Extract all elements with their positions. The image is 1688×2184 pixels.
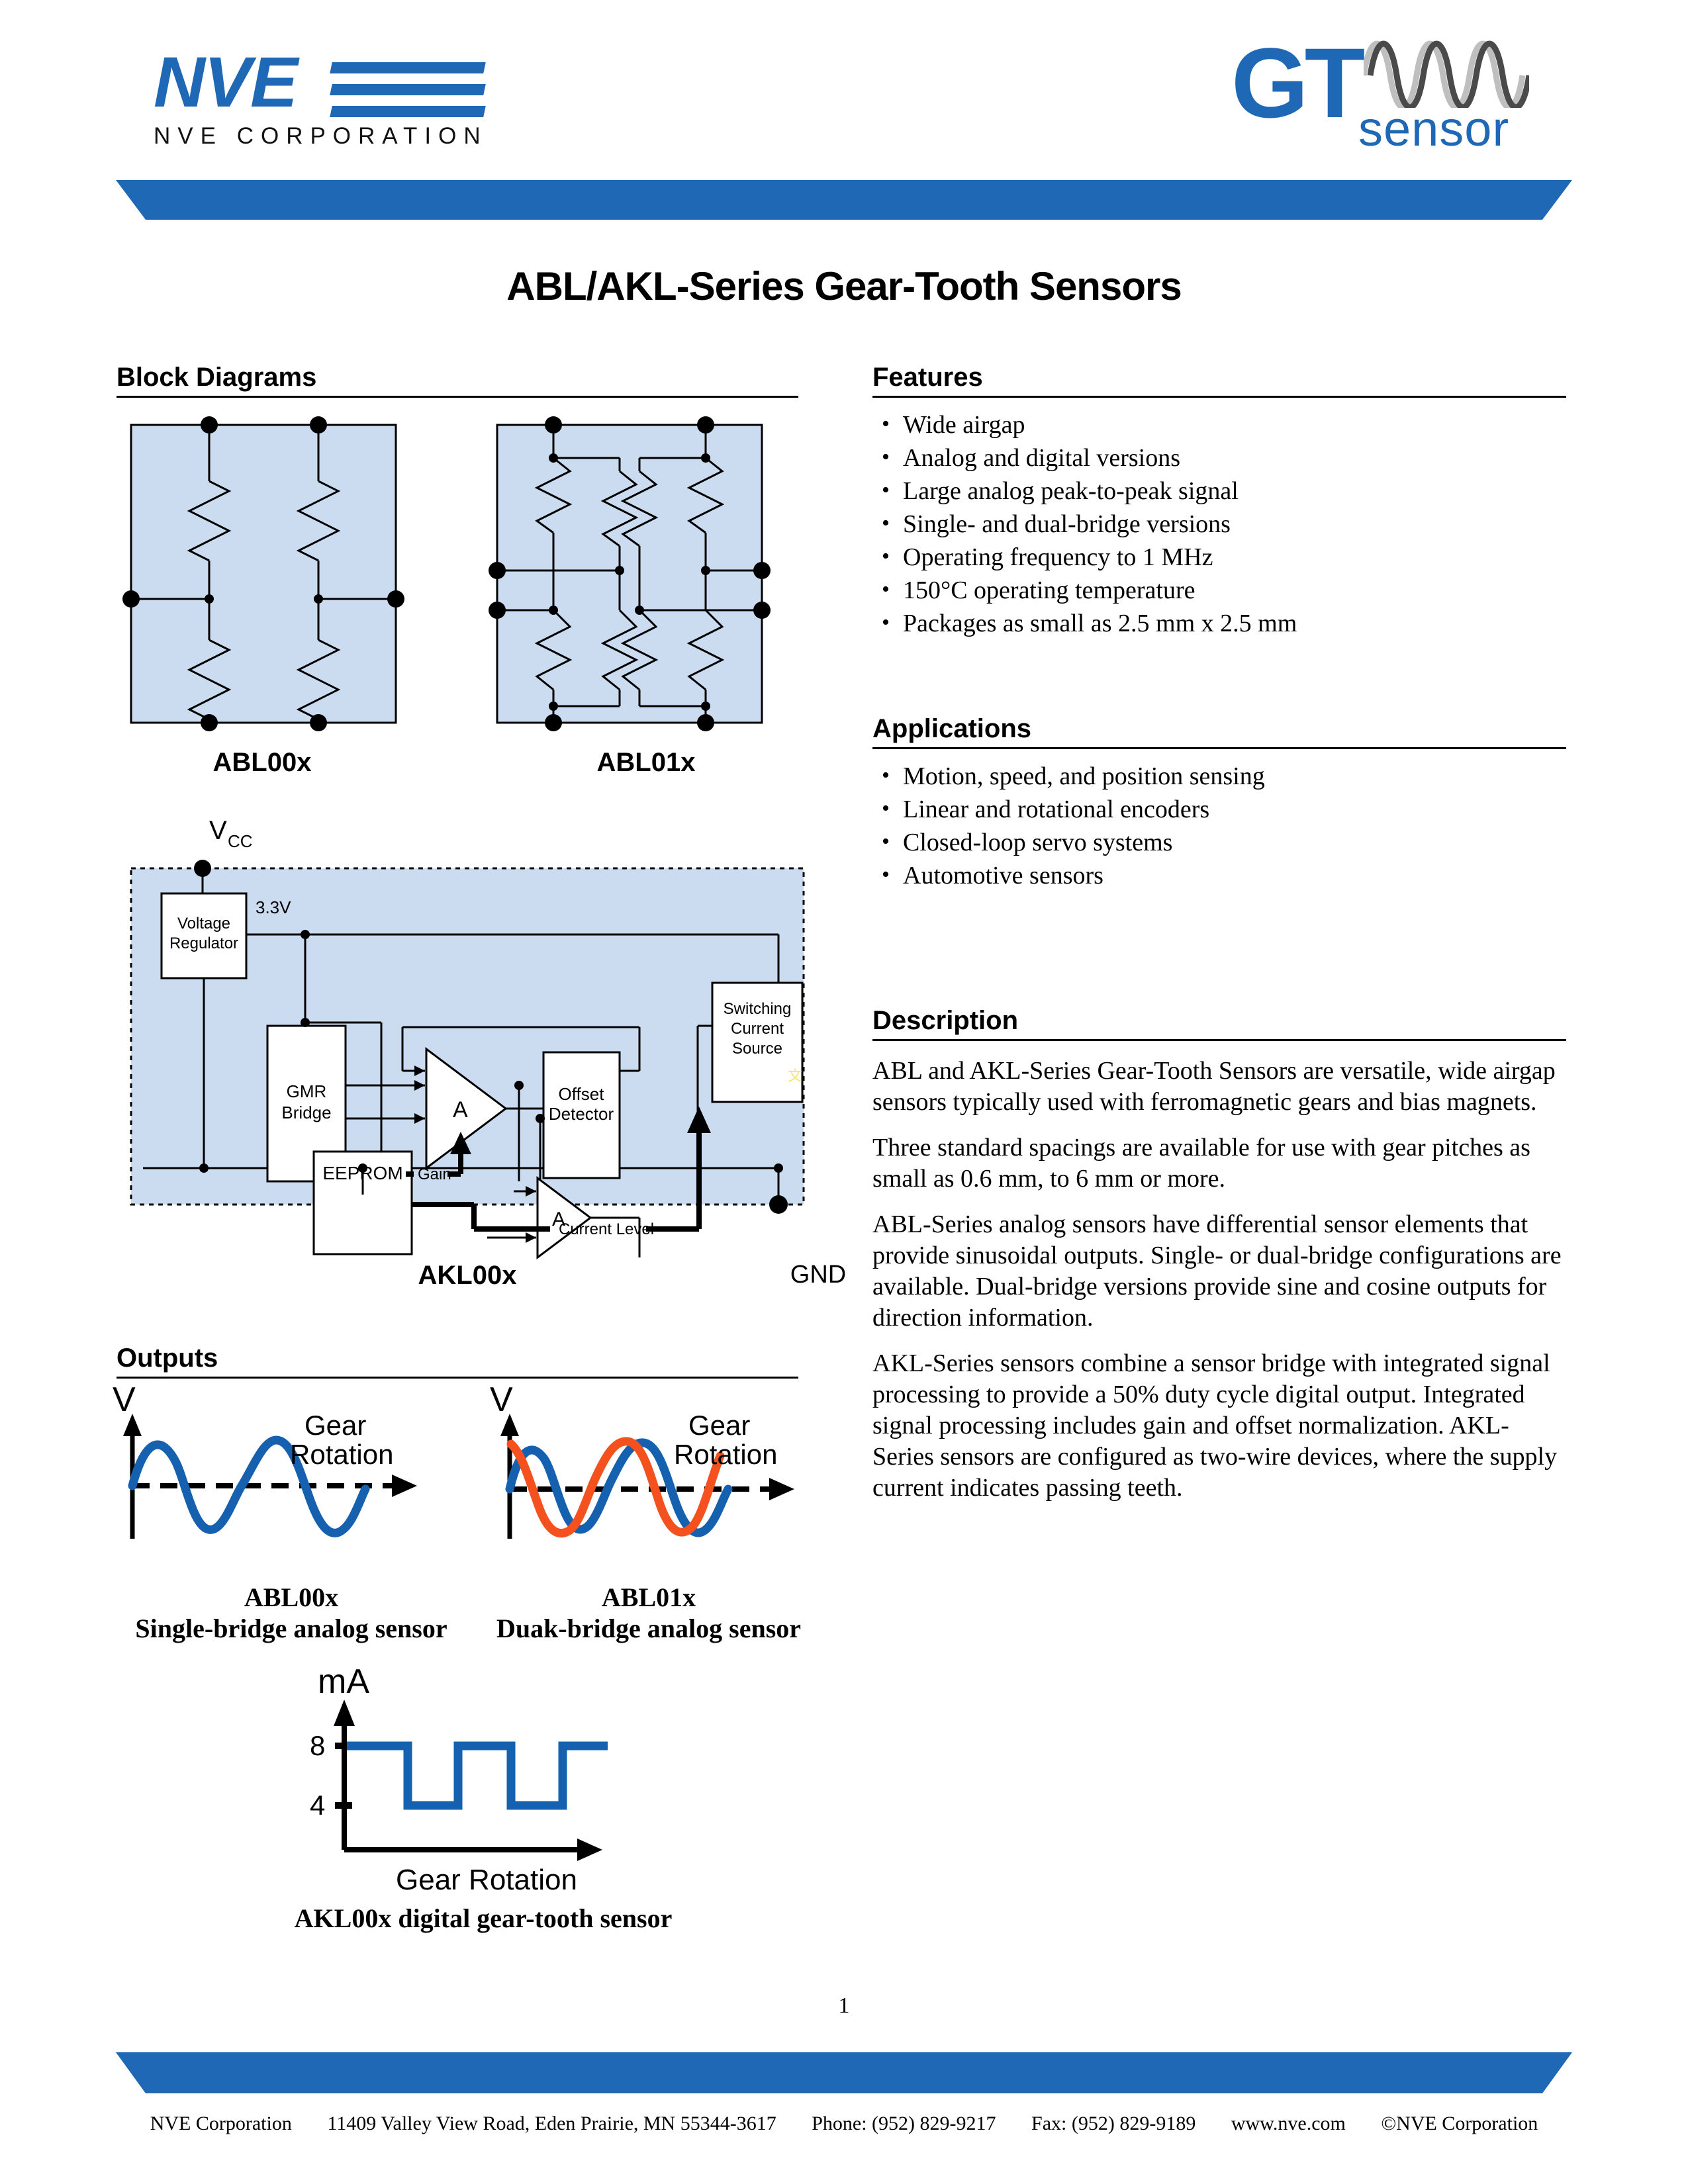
chart-akl00x-digital: mA 8 4 Gear Rotation — [278, 1661, 688, 1893]
chart3-xlabel: Gear Rotation — [396, 1864, 577, 1893]
svg-text:Current: Current — [731, 1020, 784, 1038]
svg-text:CC: CC — [228, 831, 253, 851]
sine-wave-icon — [1364, 38, 1529, 108]
current-level-signal-label: Current Level — [559, 1220, 654, 1238]
svg-text:Detector: Detector — [549, 1104, 614, 1124]
list-item: Operating frequency to 1 MHz — [872, 542, 1566, 573]
svg-text:GMR: GMR — [287, 1081, 327, 1101]
applications-heading: Applications — [872, 714, 1566, 749]
list-item: Analog and digital versions — [872, 443, 1566, 474]
features-heading: Features — [872, 363, 1566, 398]
abl01x-diagram — [489, 416, 771, 731]
chart3-ytick-4: 4 — [310, 1790, 325, 1821]
gt-sensor-logo: GT sensor — [1231, 33, 1536, 152]
right-column: Features Wide airgap Analog and digital … — [872, 363, 1566, 1504]
footer-address: 11409 Valley View Road, Eden Prairie, MN… — [327, 2113, 776, 2135]
svg-text:Bridge: Bridge — [281, 1103, 331, 1122]
svg-text:Rotation: Rotation — [674, 1439, 777, 1470]
chart3-caption: AKL00x digital gear-tooth sensor — [185, 1903, 781, 1934]
list-item: Linear and rotational encoders — [872, 794, 1566, 825]
gt-mark-text: GT — [1231, 33, 1361, 132]
list-item: Single- and dual-bridge versions — [872, 509, 1566, 540]
akl00x-block-diagram: V CC Voltage Regulator 3.3V GMR Bridge — [117, 807, 818, 1297]
list-item: Closed-loop servo systems — [872, 827, 1566, 858]
left-column: Block Diagrams — [117, 363, 798, 398]
block-diagrams-heading: Block Diagrams — [117, 363, 798, 398]
list-item: Wide airgap — [872, 410, 1566, 441]
chart2-caption-group: ABL01x Duak-bridge analog sensor — [463, 1582, 834, 1644]
chart2-subtitle: Duak-bridge analog sensor — [463, 1613, 834, 1644]
caption-abl00x: ABL00x — [123, 748, 401, 778]
nve-logo: NVE NVE CORPORATION — [154, 46, 498, 152]
chart-abl00x: V Gear Rotation — [113, 1383, 417, 1539]
nve-bars-icon — [331, 53, 485, 124]
footer-fax: Fax: (952) 829-9189 — [1031, 2113, 1196, 2135]
svg-text:Regulator: Regulator — [169, 934, 238, 952]
description-paragraph: ABL and AKL-Series Gear-Tooth Sensors ar… — [872, 1056, 1566, 1118]
applications-list: Motion, speed, and position sensing Line… — [872, 761, 1566, 891]
svg-text:Switching: Switching — [724, 1000, 792, 1018]
outputs-section: Outputs — [117, 1343, 798, 1379]
chart1-title: ABL00x — [106, 1582, 477, 1613]
svg-text:Source: Source — [732, 1040, 782, 1058]
description-paragraph: ABL-Series analog sensors have different… — [872, 1209, 1566, 1334]
list-item: Motion, speed, and position sensing — [872, 761, 1566, 792]
gt-sensor-text: sensor — [1358, 105, 1509, 154]
nve-corporation-text: NVE CORPORATION — [154, 123, 498, 150]
footer-website[interactable]: www.nve.com — [1231, 2113, 1346, 2135]
chart2-title: ABL01x — [463, 1582, 834, 1613]
footer-company: NVE Corporation — [150, 2113, 292, 2135]
svg-text:A: A — [453, 1097, 468, 1122]
svg-text:Gear: Gear — [305, 1410, 366, 1441]
outputs-heading: Outputs — [117, 1343, 798, 1379]
header-banner — [0, 180, 1688, 220]
features-list: Wide airgap Analog and digital versions … — [872, 410, 1566, 639]
chart1-caption-group: ABL00x Single-bridge analog sensor — [106, 1582, 477, 1644]
footer: NVE Corporation 11409 Valley View Road, … — [0, 2113, 1688, 2135]
svg-text:Rotation: Rotation — [290, 1439, 393, 1470]
list-item: Large analog peak-to-peak signal — [872, 476, 1566, 507]
svg-text:Offset: Offset — [559, 1084, 605, 1104]
rail-label-3v3: 3.3V — [256, 897, 291, 917]
analog-output-charts: V Gear Rotation V Gear Rotation — [106, 1383, 821, 1582]
page-title: ABL/AKL-Series Gear-Tooth Sensors — [0, 263, 1688, 309]
svg-text:V: V — [490, 1383, 513, 1419]
gain-signal-label: Gain — [418, 1165, 451, 1183]
chart1-subtitle: Single-bridge analog sensor — [106, 1613, 477, 1644]
list-item: 150°C operating temperature — [872, 575, 1566, 606]
description-heading: Description — [872, 1006, 1566, 1041]
list-item: Automotive sensors — [872, 860, 1566, 891]
description-paragraph: Three standard spacings are available fo… — [872, 1132, 1566, 1195]
chart-abl01x: V Gear Rotation — [490, 1383, 794, 1539]
page-number: 1 — [0, 1993, 1688, 2019]
datasheet-page: NVE NVE CORPORATION GT sensor ABL/AKL-Se… — [0, 0, 1688, 2184]
bridge-diagrams — [117, 412, 798, 782]
description-paragraph: AKL-Series sensors combine a sensor brid… — [872, 1348, 1566, 1504]
footer-banner — [0, 2052, 1688, 2093]
footer-phone: Phone: (952) 829-9217 — [812, 2113, 996, 2135]
caption-akl00x: AKL00x — [368, 1261, 567, 1291]
chart3-ytick-8: 8 — [310, 1730, 325, 1761]
abl00x-diagram — [122, 416, 404, 731]
svg-text:Voltage: Voltage — [177, 915, 230, 933]
vcc-label: V — [209, 816, 227, 845]
svg-text:Gear: Gear — [688, 1410, 750, 1441]
chart3-ylabel: mA — [318, 1662, 369, 1701]
caption-abl01x: ABL01x — [507, 748, 785, 778]
svg-text:V: V — [113, 1383, 136, 1419]
list-item: Packages as small as 2.5 mm x 2.5 mm — [872, 608, 1566, 639]
watermark: 文 — [788, 1064, 802, 1085]
caption-gnd: GND — [745, 1261, 891, 1289]
footer-copyright: ©NVE Corporation — [1381, 2113, 1538, 2135]
